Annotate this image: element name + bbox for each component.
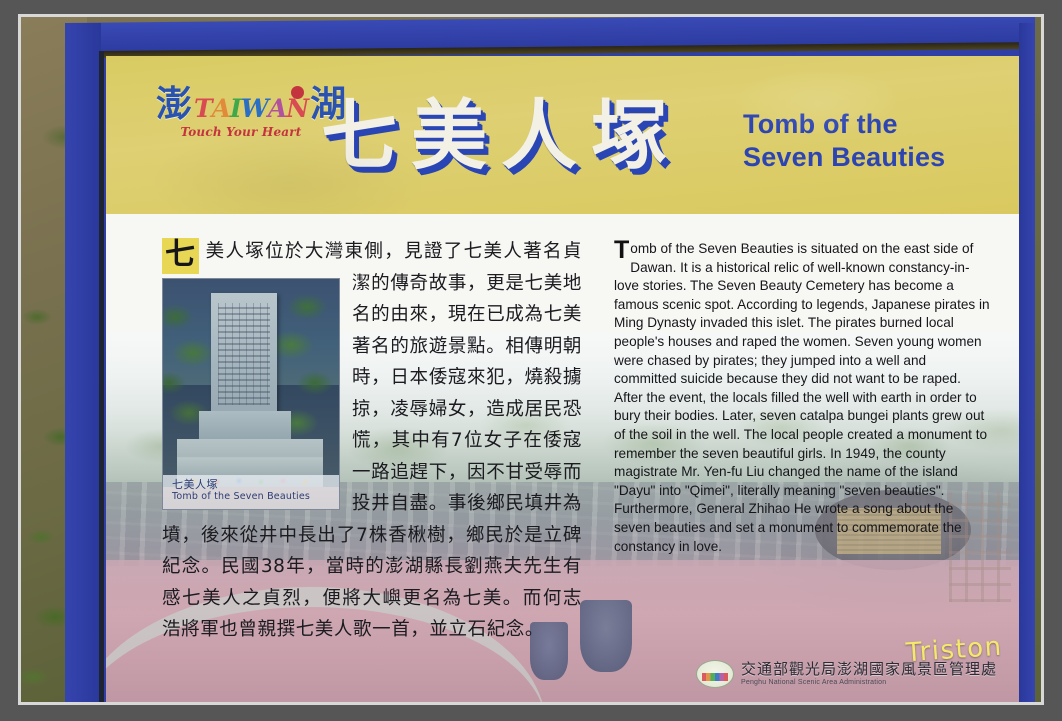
logo-letter-a1: A [212, 96, 230, 122]
inset-caption-chinese: 七美人塚 [172, 478, 339, 491]
frame-left-shadow [99, 51, 104, 702]
page-title-chinese: 七美人塚 [321, 92, 681, 180]
logo-tagline: Touch Your Heart [156, 125, 326, 139]
taiwan-tourism-logo-icon [696, 660, 734, 688]
frame-left-post [65, 23, 101, 702]
board-body: 七 七美人塚 Tomb of the [106, 214, 1019, 702]
logo-letter-n: N [286, 96, 308, 122]
page-title-english-line1: Tomb of the [743, 108, 993, 141]
sign-blue-frame: 澎 T A I W A N 湖 To [65, 23, 1035, 702]
photographer-watermark: Triston [906, 633, 1004, 668]
logo-letter-i: I [230, 96, 241, 122]
logo-letter-t: T [194, 96, 212, 122]
logo-han-left: 澎 [156, 86, 192, 124]
photo-inner-border: 澎 T A I W A N 湖 To [18, 14, 1044, 705]
page-title-english: Tomb of the Seven Beauties [743, 108, 993, 174]
english-paragraph: omb of the Seven Beauties is situated on… [614, 241, 990, 554]
frame-right-post [1019, 23, 1035, 702]
logo-letter-a2: A [268, 96, 286, 122]
logo-wordmark-row: 澎 T A I W A N 湖 [156, 78, 326, 124]
photo-matte-frame: 澎 T A I W A N 湖 To [0, 0, 1062, 721]
logo-accent-dot-icon [291, 86, 304, 99]
english-dropcap: T [614, 241, 629, 260]
penghu-taiwan-logo: 澎 T A I W A N 湖 To [156, 78, 326, 144]
information-board: 澎 T A I W A N 湖 To [106, 56, 1019, 702]
inset-photo-stele-base [199, 411, 291, 441]
credit-text-block: 交通部觀光局澎湖國家風景區管理處 Penghu National Scenic … [741, 661, 997, 687]
chinese-body-text: 七 七美人塚 Tomb of the [162, 236, 582, 646]
english-body-text: Tomb of the Seven Beauties is situated o… [614, 240, 991, 556]
credit-english: Penghu National Scenic Area Administrati… [741, 678, 997, 687]
chinese-dropcap: 七 [162, 238, 199, 274]
inset-photo-caption: 七美人塚 Tomb of the Seven Beauties [163, 475, 339, 509]
inset-photo-stone-stele [211, 293, 277, 413]
logo-taiwan-wordmark: T A I W A N [194, 96, 308, 122]
page-title-english-line2: Seven Beauties [743, 141, 993, 174]
logo-letter-w: W [241, 96, 268, 122]
inset-monument-photo: 七美人塚 Tomb of the Seven Beauties [162, 278, 340, 510]
inset-caption-english: Tomb of the Seven Beauties [172, 491, 339, 503]
header-band: 澎 T A I W A N 湖 To [106, 56, 1019, 214]
